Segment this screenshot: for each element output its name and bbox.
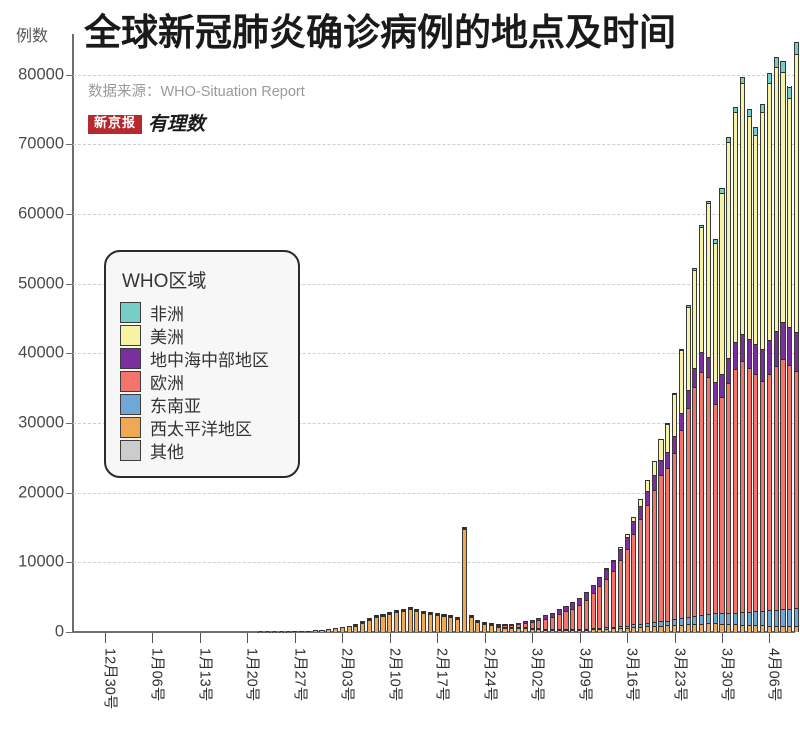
- bar-column[interactable]: [530, 620, 535, 632]
- bar-segment: [700, 372, 703, 616]
- bar-segment: [605, 629, 608, 632]
- bar-column[interactable]: [441, 614, 446, 632]
- bar-segment: [571, 630, 574, 632]
- x-tick-mark: [437, 633, 438, 643]
- bar-segment: [714, 382, 717, 404]
- bar-segment: [585, 600, 588, 629]
- bar-segment: [734, 112, 737, 342]
- bar-segment: [748, 368, 751, 612]
- gridline: [73, 144, 795, 145]
- x-tick-mark: [105, 633, 106, 643]
- bar-segment: [707, 377, 710, 614]
- bar-column[interactable]: [462, 527, 467, 632]
- y-tick-label: 70000: [0, 135, 64, 154]
- bar-segment: [734, 613, 737, 625]
- bar-segment: [653, 461, 656, 475]
- legend-item-1[interactable]: 美洲: [120, 324, 284, 347]
- y-tick-label: 80000: [0, 65, 64, 84]
- bar-segment: [585, 592, 588, 600]
- bar-segment: [361, 623, 364, 632]
- bar-segment: [734, 624, 737, 632]
- bar-segment: [544, 630, 547, 632]
- bar-column[interactable]: [496, 624, 501, 632]
- legend-item-2[interactable]: 地中海中部地区: [120, 347, 284, 370]
- bar-segment: [612, 561, 615, 571]
- x-tick-label: 2月10号: [385, 648, 406, 701]
- bar-column[interactable]: [469, 615, 474, 632]
- gridline: [73, 75, 795, 76]
- bar-segment: [327, 629, 330, 632]
- bar-segment: [666, 625, 669, 632]
- legend-title: WHO区域: [122, 266, 284, 293]
- bar-column[interactable]: [794, 42, 799, 632]
- bar-segment: [456, 619, 459, 632]
- bar-column[interactable]: [448, 615, 453, 632]
- bar-segment: [334, 628, 337, 632]
- bar-column[interactable]: [699, 225, 704, 632]
- bar-segment: [754, 625, 757, 632]
- bar-segment: [659, 626, 662, 632]
- bar-column[interactable]: [577, 598, 582, 632]
- bar-segment: [666, 452, 669, 468]
- legend-swatch-icon: [120, 394, 141, 415]
- bar-segment: [646, 480, 649, 490]
- bar-segment: [781, 72, 784, 323]
- bar-column[interactable]: [435, 613, 440, 632]
- bar-segment: [768, 610, 771, 625]
- bar-segment: [544, 619, 547, 629]
- bar-segment: [259, 631, 262, 632]
- bar-segment: [693, 368, 696, 387]
- bar-column[interactable]: [719, 188, 724, 632]
- bar-segment: [300, 631, 303, 632]
- bar-segment: [788, 609, 791, 626]
- bar-column[interactable]: [774, 57, 779, 632]
- bar-segment: [578, 598, 581, 605]
- y-tick-mark: [66, 284, 73, 285]
- bar-segment: [436, 615, 439, 632]
- legend-item-4[interactable]: 东南亚: [120, 393, 284, 416]
- bar-column[interactable]: [760, 104, 765, 632]
- bar-column[interactable]: [787, 86, 792, 632]
- x-tick-label: 3月16号: [623, 648, 644, 701]
- bar-column[interactable]: [394, 610, 399, 632]
- bar-column[interactable]: [299, 631, 304, 632]
- bar-segment: [700, 352, 703, 372]
- x-tick-mark: [769, 633, 770, 643]
- x-tick-mark: [532, 633, 533, 643]
- legend: WHO区域 非洲美洲地中海中部地区欧洲东南亚西太平洋地区其他: [104, 250, 300, 478]
- x-tick-label: 1月20号: [243, 648, 264, 701]
- bar-segment: [775, 331, 778, 366]
- x-tick-mark: [390, 633, 391, 643]
- bar-segment: [775, 610, 778, 626]
- bar-segment: [626, 537, 629, 549]
- bar-segment: [761, 611, 764, 626]
- bar-segment: [646, 626, 649, 632]
- bar-segment: [788, 98, 791, 328]
- x-tick-mark: [580, 633, 581, 643]
- bar-segment: [409, 609, 412, 632]
- y-tick-mark: [66, 423, 73, 424]
- bar-segment: [659, 439, 662, 460]
- bar-column[interactable]: [631, 517, 636, 632]
- legend-item-label: 其他: [150, 438, 184, 463]
- bar-segment: [761, 112, 764, 349]
- x-tick-label: 2月17号: [433, 648, 454, 701]
- bar-segment: [551, 630, 554, 632]
- bar-column[interactable]: [597, 577, 602, 632]
- bar-segment: [673, 453, 676, 620]
- bar-column[interactable]: [645, 480, 650, 632]
- bar-segment: [720, 624, 723, 632]
- bar-column[interactable]: [347, 626, 352, 632]
- x-tick-label: 3月23号: [670, 648, 691, 701]
- bar-segment: [422, 613, 425, 632]
- bar-segment: [605, 579, 608, 627]
- bar-segment: [741, 612, 744, 625]
- bar-segment: [781, 359, 784, 610]
- bar-segment: [646, 491, 649, 505]
- bar-segment: [470, 617, 473, 632]
- bar-segment: [280, 631, 283, 632]
- bar-segment: [768, 340, 771, 373]
- y-axis-title: 例数: [16, 22, 48, 46]
- y-tick-label: 20000: [0, 483, 64, 502]
- bar-segment: [727, 624, 730, 632]
- bar-segment: [449, 617, 452, 632]
- bar-column[interactable]: [652, 461, 657, 632]
- bar-segment: [666, 424, 669, 452]
- bar-segment: [720, 397, 723, 613]
- x-tick-label: 1月27号: [290, 648, 311, 701]
- bar-segment: [680, 350, 683, 413]
- x-tick-mark: [627, 633, 628, 643]
- bar-segment: [402, 611, 405, 632]
- x-tick-mark: [152, 633, 153, 643]
- bar-column[interactable]: [367, 618, 372, 632]
- bar-column[interactable]: [340, 627, 345, 632]
- bar-segment: [266, 631, 269, 632]
- bar-segment: [395, 612, 398, 632]
- x-tick-label: 2月03号: [338, 648, 359, 701]
- bar-column[interactable]: [740, 77, 745, 632]
- bar-segment: [795, 608, 798, 626]
- legend-items: 非洲美洲地中海中部地区欧洲东南亚西太平洋地区其他: [120, 301, 284, 462]
- bar-column[interactable]: [509, 624, 514, 632]
- bar-segment: [775, 366, 778, 610]
- bar-column[interactable]: [557, 609, 562, 632]
- bar-column[interactable]: [536, 618, 541, 632]
- bar-segment: [442, 616, 445, 632]
- bar-column[interactable]: [692, 268, 697, 632]
- bar-segment: [748, 612, 751, 625]
- bar-segment: [307, 631, 310, 632]
- legend-item-label: 地中海中部地区: [150, 346, 269, 371]
- bar-segment: [768, 626, 771, 632]
- bar-column[interactable]: [380, 614, 385, 632]
- bar-column[interactable]: [543, 615, 548, 632]
- bar-segment: [741, 83, 744, 334]
- bar-segment: [687, 390, 690, 408]
- bar-column[interactable]: [475, 620, 480, 632]
- bar-segment: [585, 630, 588, 632]
- legend-swatch-icon: [120, 417, 141, 438]
- bar-segment: [748, 339, 751, 368]
- bar-segment: [564, 611, 567, 629]
- bar-segment: [761, 349, 764, 381]
- bar-column[interactable]: [780, 61, 785, 632]
- bar-segment: [598, 577, 601, 586]
- bar-segment: [429, 614, 432, 632]
- bar-column[interactable]: [374, 615, 379, 632]
- bar-column[interactable]: [306, 631, 311, 632]
- x-tick-mark: [675, 633, 676, 643]
- legend-item-3[interactable]: 欧洲: [120, 370, 284, 393]
- x-tick-mark: [485, 633, 486, 643]
- bar-column[interactable]: [421, 611, 426, 632]
- bar-segment: [531, 629, 534, 632]
- bar-segment: [714, 243, 717, 382]
- bar-column[interactable]: [747, 109, 752, 632]
- bar-column[interactable]: [455, 617, 460, 632]
- y-tick-mark: [66, 493, 73, 494]
- bar-segment: [632, 627, 635, 632]
- bar-segment: [612, 628, 615, 632]
- bar-segment: [795, 42, 798, 54]
- bar-column[interactable]: [611, 560, 616, 632]
- bar-segment: [639, 499, 642, 506]
- bar-segment: [571, 609, 574, 630]
- y-tick-mark: [66, 214, 73, 215]
- bar-column[interactable]: [313, 630, 318, 632]
- bar-segment: [619, 628, 622, 632]
- bar-column[interactable]: [319, 630, 324, 632]
- bar-segment: [720, 613, 723, 623]
- bar-segment: [734, 342, 737, 368]
- bar-column[interactable]: [767, 73, 772, 632]
- bar-segment: [578, 630, 581, 632]
- bar-column[interactable]: [333, 628, 338, 632]
- bar-segment: [781, 61, 784, 71]
- legend-swatch-icon: [120, 348, 141, 369]
- bar-column[interactable]: [726, 137, 731, 632]
- bar-segment: [483, 624, 486, 632]
- bar-segment: [795, 371, 798, 608]
- bar-segment: [761, 104, 764, 112]
- bar-segment: [687, 408, 690, 617]
- bar-column[interactable]: [638, 499, 643, 632]
- bar-segment: [381, 616, 384, 632]
- bar-column[interactable]: [591, 585, 596, 632]
- bar-column[interactable]: [428, 612, 433, 632]
- y-tick-mark: [66, 353, 73, 354]
- bar-segment: [497, 627, 500, 632]
- bar-column[interactable]: [387, 612, 392, 632]
- bar-column[interactable]: [753, 127, 758, 632]
- bar-segment: [354, 626, 357, 632]
- bar-segment: [707, 614, 710, 623]
- bar-segment: [741, 334, 744, 362]
- bar-column[interactable]: [401, 609, 406, 632]
- bar-segment: [693, 624, 696, 632]
- bar-column[interactable]: [658, 439, 663, 632]
- bar-segment: [463, 529, 466, 632]
- bar-segment: [727, 142, 730, 358]
- bar-segment: [517, 628, 520, 632]
- bar-column[interactable]: [408, 607, 413, 632]
- bar-segment: [727, 383, 730, 613]
- x-tick-mark: [200, 633, 201, 643]
- x-tick-label: 4月06号: [765, 648, 786, 701]
- bar-segment: [659, 475, 662, 621]
- bar-segment: [510, 628, 513, 632]
- bar-column[interactable]: [360, 621, 365, 632]
- bar-segment: [287, 631, 290, 632]
- y-tick-label: 60000: [0, 205, 64, 224]
- y-tick-mark: [66, 632, 73, 633]
- bar-column[interactable]: [625, 534, 630, 632]
- y-tick-mark: [66, 562, 73, 563]
- bar-segment: [680, 413, 683, 430]
- bar-segment: [537, 629, 540, 632]
- bar-segment: [653, 490, 656, 622]
- bar-segment: [639, 519, 642, 623]
- bar-segment: [795, 332, 798, 371]
- bar-segment: [673, 436, 676, 453]
- bar-column[interactable]: [618, 547, 623, 632]
- bar-segment: [639, 627, 642, 632]
- bar-segment: [537, 620, 540, 628]
- bar-column[interactable]: [489, 623, 494, 632]
- bar-segment: [761, 381, 764, 611]
- bar-segment: [734, 369, 737, 613]
- bar-segment: [788, 327, 791, 365]
- y-tick-label: 50000: [0, 274, 64, 293]
- bar-segment: [781, 626, 784, 632]
- bar-segment: [598, 586, 601, 628]
- bar-segment: [320, 630, 323, 632]
- bar-segment: [598, 629, 601, 632]
- bar-segment: [632, 521, 635, 534]
- y-tick-label: 40000: [0, 344, 64, 363]
- bar-column[interactable]: [665, 423, 670, 632]
- bar-column[interactable]: [706, 201, 711, 632]
- bar-segment: [714, 613, 717, 623]
- bar-segment: [768, 374, 771, 611]
- x-tick-mark: [247, 633, 248, 643]
- bar-segment: [639, 506, 642, 519]
- legend-swatch-icon: [120, 302, 141, 323]
- bar-column[interactable]: [604, 568, 609, 632]
- bar-segment: [612, 571, 615, 626]
- bar-segment: [348, 626, 351, 632]
- legend-swatch-icon: [120, 371, 141, 392]
- x-tick-label: 2月24号: [480, 648, 501, 701]
- bar-segment: [693, 387, 696, 617]
- bar-column[interactable]: [292, 631, 297, 632]
- bar-segment: [578, 605, 581, 629]
- bar-column[interactable]: [326, 629, 331, 632]
- bar-column[interactable]: [516, 623, 521, 632]
- bar-segment: [775, 57, 778, 67]
- bar-segment: [503, 628, 506, 632]
- legend-item-5[interactable]: 西太平洋地区: [120, 416, 284, 439]
- bar-segment: [666, 468, 669, 621]
- y-tick-label: 30000: [0, 414, 64, 433]
- x-tick-label: 3月09号: [575, 648, 596, 701]
- bar-segment: [775, 626, 778, 632]
- legend-item-0[interactable]: 非洲: [120, 301, 284, 324]
- x-tick-mark: [295, 633, 296, 643]
- bar-segment: [592, 629, 595, 632]
- bar-segment: [293, 631, 296, 632]
- bar-segment: [646, 505, 649, 623]
- bar-column[interactable]: [563, 606, 568, 632]
- bar-column[interactable]: [414, 609, 419, 632]
- bar-column[interactable]: [523, 621, 528, 632]
- bar-column[interactable]: [550, 613, 555, 632]
- gridline: [73, 214, 795, 215]
- bar-column[interactable]: [584, 592, 589, 632]
- bar-segment: [653, 475, 656, 490]
- bar-segment: [687, 307, 690, 391]
- bar-segment: [490, 625, 493, 632]
- bar-column[interactable]: [482, 622, 487, 632]
- bar-segment: [700, 624, 703, 632]
- bar-segment: [415, 611, 418, 632]
- bar-column[interactable]: [672, 393, 677, 632]
- bar-segment: [693, 270, 696, 368]
- bar-segment: [368, 620, 371, 632]
- legend-swatch-icon: [120, 325, 141, 346]
- bar-column[interactable]: [502, 624, 507, 632]
- bar-segment: [687, 624, 690, 632]
- bar-column[interactable]: [570, 602, 575, 632]
- bar-segment: [707, 623, 710, 632]
- bar-segment: [707, 357, 710, 378]
- bar-column[interactable]: [686, 305, 691, 632]
- legend-item-label: 西太平洋地区: [150, 415, 252, 440]
- bar-segment: [673, 394, 676, 436]
- legend-item-label: 非洲: [150, 300, 184, 325]
- x-tick-label: 1月06号: [148, 648, 169, 701]
- x-tick-label: 12月30号: [101, 648, 122, 709]
- bar-column[interactable]: [353, 624, 358, 632]
- bar-segment: [687, 617, 690, 624]
- bar-segment: [741, 625, 744, 632]
- bar-segment: [768, 83, 771, 341]
- bar-segment: [341, 627, 344, 632]
- x-tick-label: 3月02号: [528, 648, 549, 701]
- bar-segment: [476, 622, 479, 632]
- bar-segment: [768, 73, 771, 82]
- legend-item-6[interactable]: 其他: [120, 439, 284, 462]
- bar-segment: [748, 625, 751, 632]
- x-tick-mark: [722, 633, 723, 643]
- x-tick-label: 3月30号: [717, 648, 738, 701]
- bar-segment: [626, 549, 629, 626]
- bar-column[interactable]: [713, 239, 718, 632]
- x-tick-label: 1月13号: [195, 648, 216, 701]
- legend-item-label: 欧洲: [150, 369, 184, 394]
- bar-column[interactable]: [733, 107, 738, 632]
- bar-segment: [754, 611, 757, 625]
- bar-segment: [781, 609, 784, 626]
- bar-column[interactable]: [679, 349, 684, 632]
- bar-segment: [700, 227, 703, 352]
- bar-segment: [754, 374, 757, 611]
